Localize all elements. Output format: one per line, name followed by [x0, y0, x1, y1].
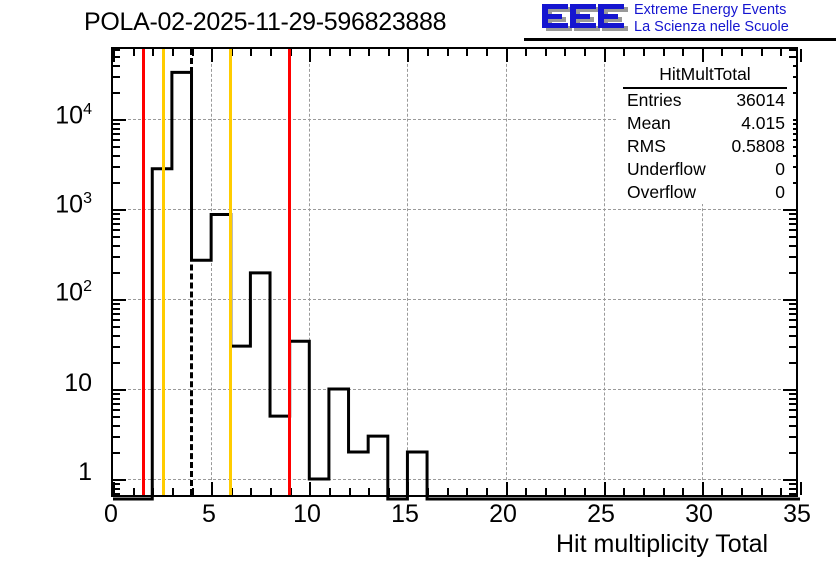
- x-axis-title: Hit multiplicity Total: [556, 530, 768, 559]
- x-tick-label-5: 5: [179, 500, 239, 529]
- logo-underline-rule: [524, 38, 836, 41]
- stats-row-mean: Mean 4.015: [617, 112, 793, 135]
- x-tick-label-10: 10: [277, 500, 337, 529]
- stats-key-mean: Mean: [627, 113, 671, 134]
- y-tick-label-10000: 104: [22, 101, 92, 130]
- eee-logo: Extreme Energy Events La Scienza nelle S…: [540, 2, 836, 38]
- stats-box: HitMultTotal Entries 36014 Mean 4.015 RM…: [617, 63, 793, 204]
- x-tick-label-15: 15: [375, 500, 435, 529]
- stats-value-entries: 36014: [736, 90, 785, 111]
- x-major-tick: [800, 482, 802, 495]
- marker-line-low-orange-cut: [162, 49, 165, 495]
- stats-box-title: HitMultTotal: [623, 63, 787, 89]
- stats-value-rms: 0.5808: [731, 136, 785, 157]
- eee-logo-mark: [540, 3, 628, 35]
- y-tick-label-1: 1: [22, 458, 92, 487]
- stats-key-entries: Entries: [627, 90, 681, 111]
- stats-value-mean: 4.015: [741, 113, 785, 134]
- marker-line-low-red-cut: [142, 49, 145, 495]
- marker-line-high-red-cut: [288, 49, 291, 495]
- x-tick-label-0: 0: [81, 500, 141, 529]
- stats-key-underflow: Underflow: [627, 159, 706, 180]
- stats-value-underflow: 0: [775, 159, 785, 180]
- y-tick-label-100: 102: [22, 278, 92, 307]
- y-tick-label-1000: 103: [22, 190, 92, 219]
- marker-line-mean-dashed: [190, 49, 193, 495]
- stats-value-overflow: 0: [775, 182, 785, 203]
- x-tick-label-20: 20: [473, 500, 533, 529]
- page-title: POLA-02-2025-11-29-596823888: [84, 8, 446, 37]
- stats-row-underflow: Underflow 0: [617, 158, 793, 181]
- x-tick-label-25: 25: [571, 500, 631, 529]
- eee-logo-line2: La Scienza nelle Scuole: [634, 19, 789, 36]
- x-tick-label-30: 30: [669, 500, 729, 529]
- stats-key-overflow: Overflow: [627, 182, 696, 203]
- stats-row-entries: Entries 36014: [617, 89, 793, 112]
- stats-row-rms: RMS 0.5808: [617, 135, 793, 158]
- marker-line-high-orange-cut: [229, 49, 232, 495]
- x-major-tick: [800, 49, 802, 62]
- y-tick-label-10: 10: [22, 369, 92, 398]
- eee-logo-text: Extreme Energy Events La Scienza nelle S…: [634, 2, 789, 36]
- stats-row-overflow: Overflow 0: [617, 181, 793, 204]
- x-tick-label-35: 35: [767, 500, 827, 529]
- stats-key-rms: RMS: [627, 136, 666, 157]
- eee-logo-line1: Extreme Energy Events: [634, 2, 789, 19]
- root-canvas: POLA-02-2025-11-29-596823888: [0, 0, 836, 572]
